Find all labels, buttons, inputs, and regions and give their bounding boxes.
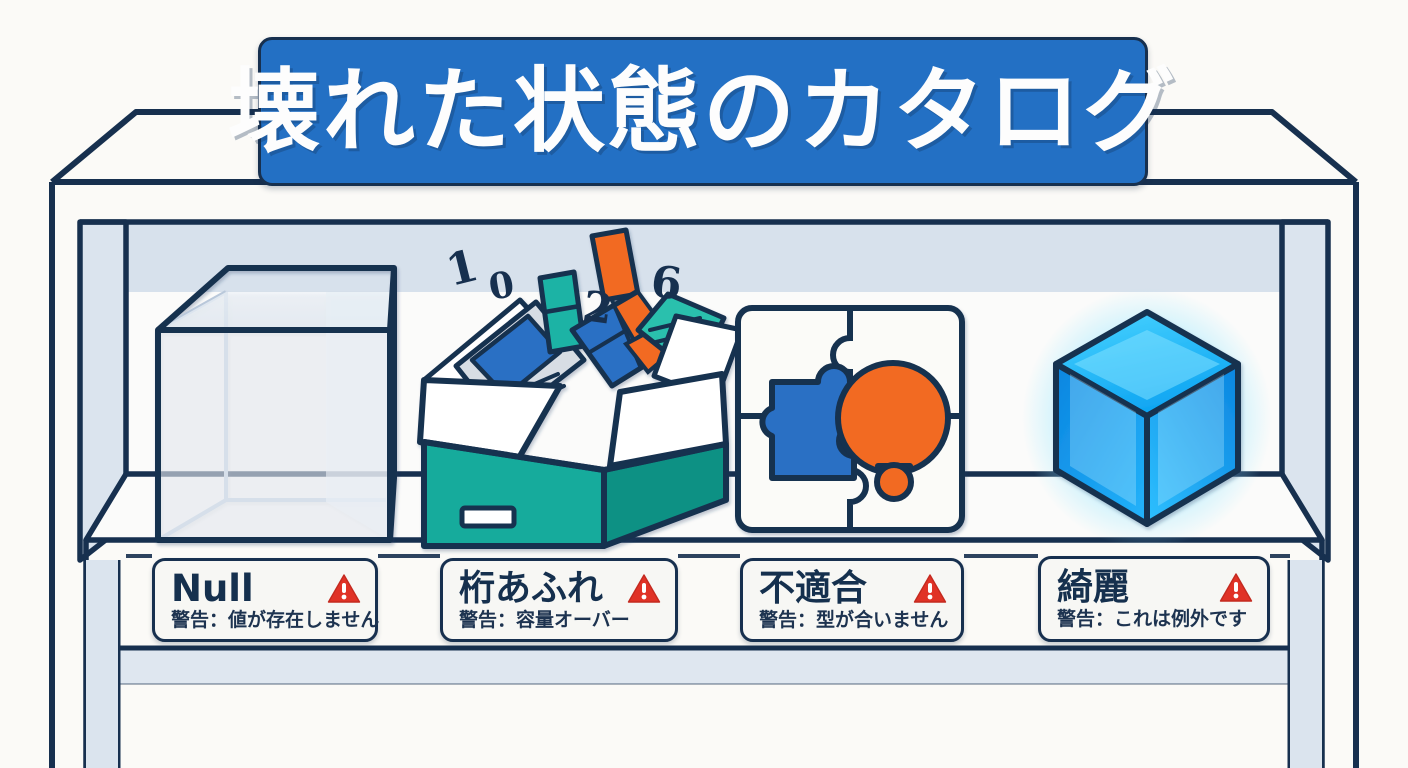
exhibit-label-null[interactable]: Null 警告：値が存在しません (152, 558, 378, 642)
exhibit-label-warning: 警告：値が存在しません (171, 610, 361, 631)
empty-wireframe-cube-icon (158, 268, 394, 540)
page-title-banner: 壊れた状態のカタログ (258, 37, 1148, 186)
overflow-digit-2: 2 (580, 285, 615, 331)
warning-triangle-icon (627, 573, 661, 604)
exhibit-label-type-mismatch[interactable]: 不適合 警告：型が合いません (740, 558, 964, 642)
exhibit-label-warning: 警告：これは例外です (1057, 609, 1253, 630)
exhibit-label-pristine[interactable]: 綺麗 警告：これは例外です (1038, 556, 1270, 642)
exhibit-label-warning: 警告：型が合いません (759, 610, 947, 631)
glowing-blue-cube-icon (1022, 288, 1272, 548)
catalog-illustration: 1 0 2 6 壊れた状態のカタログ Null 警告：値が存在しません 桁あふれ… (0, 0, 1408, 768)
page-title: 壊れた状態のカタログ (228, 66, 1178, 158)
warning-triangle-icon (913, 573, 947, 604)
exhibit-label-title: 桁あふれ (459, 571, 603, 607)
exhibit-label-title: 不適合 (759, 571, 867, 607)
exhibit-label-title: 綺麗 (1057, 570, 1129, 606)
mismatched-puzzle-icon (738, 308, 962, 530)
exhibit-label-warning: 警告：容量オーバー (459, 610, 661, 631)
exhibit-label-overflow[interactable]: 桁あふれ 警告：容量オーバー (440, 558, 678, 642)
warning-triangle-icon (1219, 572, 1253, 603)
warning-triangle-icon (327, 573, 361, 604)
exhibit-label-title: Null (171, 570, 254, 607)
overflow-digit-6: 6 (649, 261, 684, 308)
